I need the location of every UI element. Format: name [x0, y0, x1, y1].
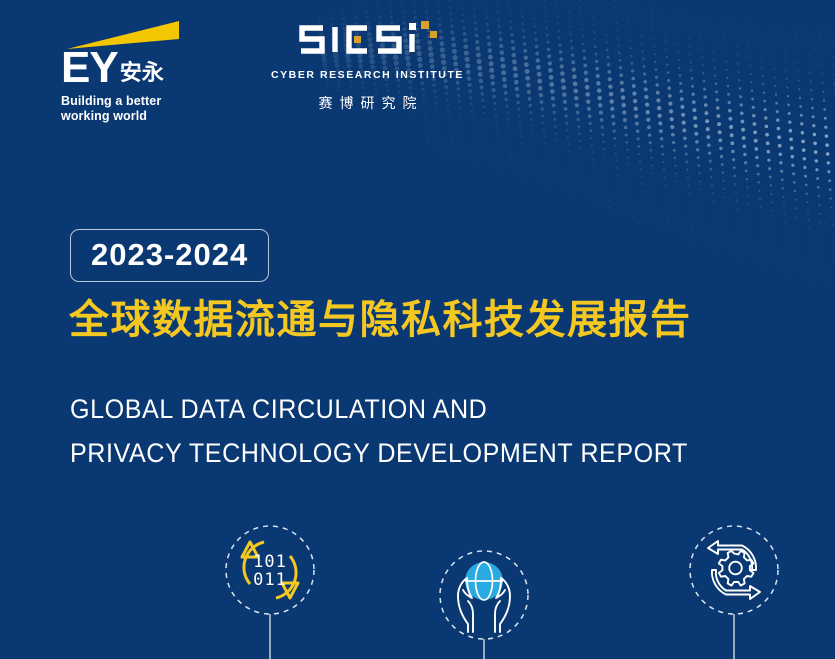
cycle-arrows-icon: [708, 541, 760, 599]
logo-row: EY 安永 Building a better working world: [61, 18, 464, 124]
page-title-english: GLOBAL DATA CIRCULATION AND PRIVACY TECH…: [70, 388, 688, 475]
technology-process-icon: [684, 520, 784, 659]
ey-chinese-name: 安永: [120, 63, 164, 85]
data-circulation-icon: 101 011: [220, 520, 320, 659]
ey-tagline-line2: working world: [61, 109, 181, 124]
year-badge: 2023-2024: [70, 229, 269, 282]
report-cover: EY 安永 Building a better working world: [0, 0, 835, 659]
ey-logo: EY 安永 Building a better working world: [61, 18, 181, 124]
page-title-chinese: 全球数据流通与隐私科技发展报告: [69, 298, 692, 342]
sicsi-wordmark-icon: [271, 18, 464, 64]
binary-top-text: 101: [253, 552, 287, 572]
ey-tagline: Building a better working world: [61, 94, 181, 124]
global-data-protection-icon: [434, 540, 534, 659]
ey-wordmark: EY: [61, 48, 118, 88]
sicsi-chinese-name: 赛博研究院: [271, 93, 464, 113]
page-title-english-line1: GLOBAL DATA CIRCULATION AND: [70, 388, 688, 432]
binary-bottom-text: 011: [253, 570, 287, 590]
sicsi-logo: CYBER RESEARCH INSTITUTE 赛博研究院: [271, 18, 464, 113]
icon-row: 101 011: [0, 505, 835, 659]
dashed-ring-icon: [690, 526, 778, 614]
ey-tagline-line1: Building a better: [61, 94, 181, 109]
page-title-english-line2: PRIVACY TECHNOLOGY DEVELOPMENT REPORT: [70, 432, 688, 476]
sicsi-subtitle: CYBER RESEARCH INSTITUTE: [271, 69, 464, 81]
